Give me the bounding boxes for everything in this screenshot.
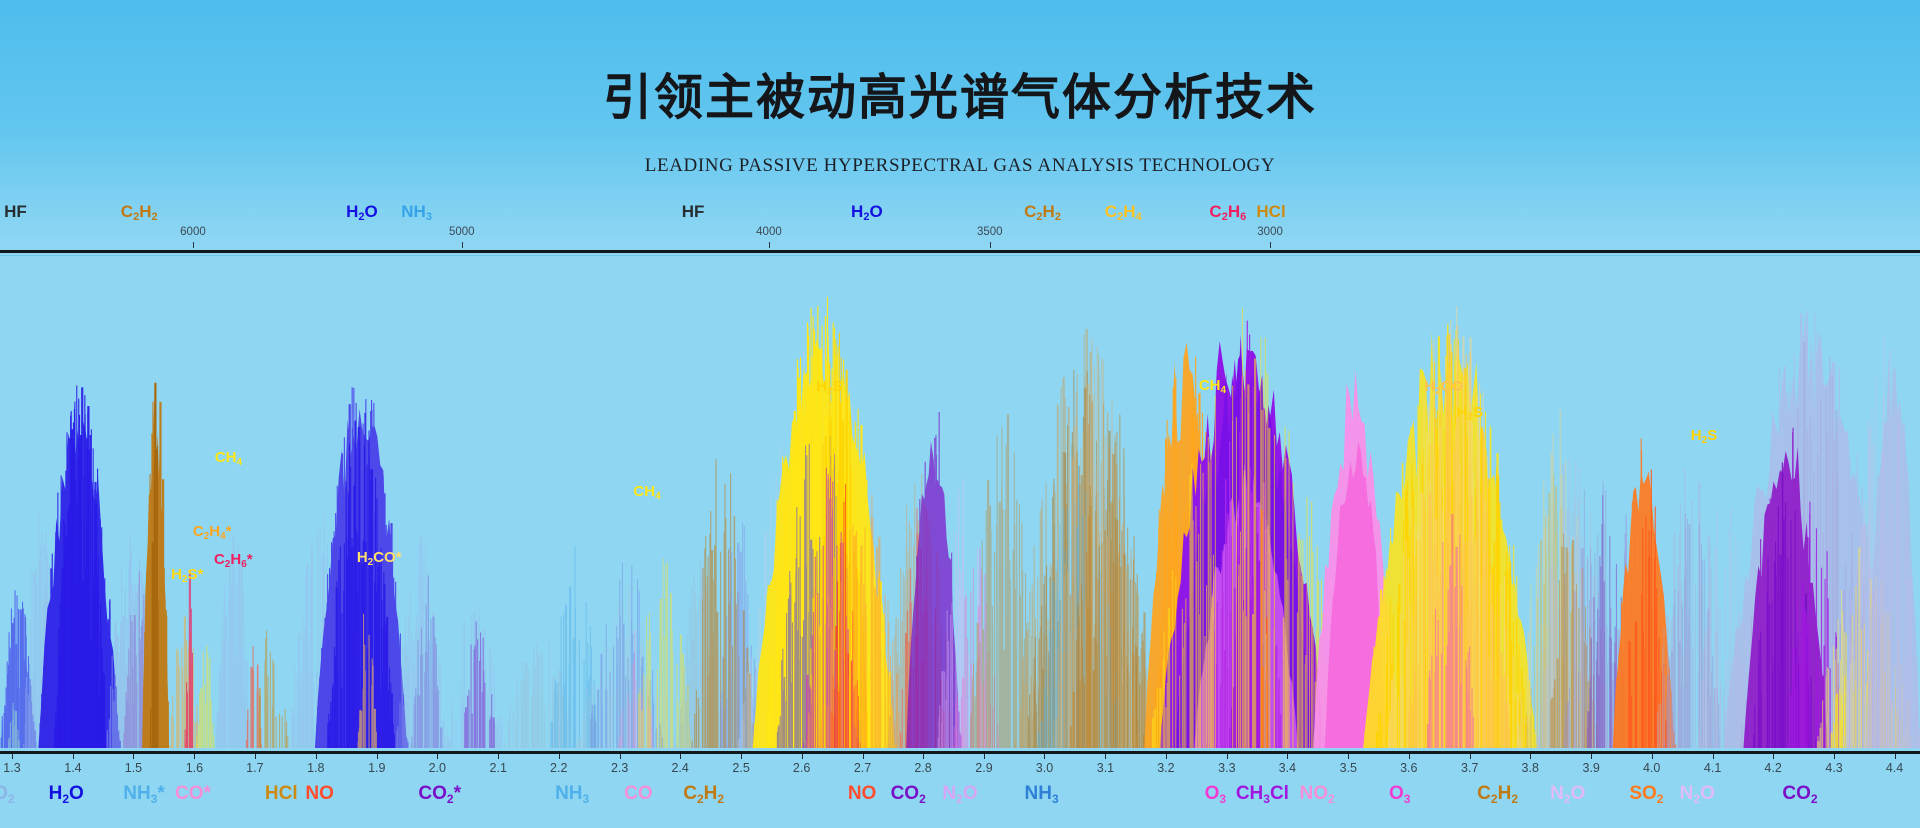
spectral-line bbox=[1035, 696, 1036, 748]
spectral-line bbox=[935, 435, 936, 748]
spectral-line bbox=[1543, 646, 1544, 749]
spectral-line bbox=[1221, 608, 1222, 748]
spectral-line bbox=[64, 666, 65, 748]
spectral-line bbox=[649, 613, 650, 749]
spectral-line bbox=[708, 557, 709, 749]
spectral-line bbox=[1495, 680, 1496, 748]
spectral-line bbox=[408, 670, 409, 748]
spectral-line bbox=[132, 703, 134, 748]
spectral-line bbox=[1292, 482, 1293, 748]
spectral-line bbox=[1435, 672, 1436, 748]
spectral-line bbox=[23, 744, 24, 748]
spectral-line bbox=[1537, 598, 1538, 748]
spectral-line bbox=[490, 716, 491, 748]
spectral-line bbox=[999, 502, 1001, 748]
spectral-line bbox=[1432, 561, 1433, 748]
spectral-line bbox=[155, 560, 156, 748]
spectral-line bbox=[705, 591, 706, 748]
spectral-line bbox=[504, 742, 505, 748]
spectral-line bbox=[88, 559, 89, 748]
spectral-line bbox=[791, 683, 792, 748]
spectral-line bbox=[1245, 370, 1246, 749]
spectral-line bbox=[484, 683, 485, 748]
spectral-line bbox=[538, 654, 540, 748]
spectral-line bbox=[41, 716, 42, 749]
spectral-line bbox=[657, 669, 658, 748]
spectral-line bbox=[121, 566, 122, 748]
spectral-line bbox=[109, 719, 110, 748]
spectral-line bbox=[581, 739, 582, 748]
spectral-line bbox=[1381, 724, 1382, 748]
spectral-line bbox=[204, 684, 205, 748]
spectral-line bbox=[794, 603, 795, 749]
spectral-line bbox=[933, 541, 934, 748]
spectral-line bbox=[670, 593, 672, 748]
spectral-line bbox=[522, 661, 523, 748]
spectral-line bbox=[1510, 642, 1512, 748]
page-title: 引领主被动高光谱气体分析技术 bbox=[0, 58, 1920, 129]
spectral-line bbox=[390, 718, 391, 748]
spectral-line bbox=[780, 716, 781, 748]
spectral-line bbox=[804, 620, 805, 748]
spectral-line bbox=[136, 683, 137, 748]
spectral-line bbox=[1507, 713, 1509, 748]
spectral-line bbox=[1004, 650, 1006, 748]
spectral-line bbox=[128, 685, 129, 748]
spectral-line bbox=[843, 502, 844, 748]
spectral-line bbox=[74, 415, 75, 748]
spectral-line bbox=[1312, 552, 1313, 748]
spectral-line bbox=[842, 625, 843, 748]
spectral-line bbox=[216, 731, 217, 749]
spectral-line bbox=[342, 685, 343, 748]
spectral-line bbox=[1052, 603, 1053, 748]
spectral-line bbox=[1535, 734, 1536, 748]
spectral-line bbox=[1534, 646, 1535, 748]
spectral-line bbox=[1124, 499, 1125, 748]
spectral-line bbox=[474, 649, 475, 748]
spectral-line bbox=[398, 640, 399, 748]
spectral-line bbox=[1526, 727, 1528, 748]
spectral-line bbox=[250, 667, 252, 748]
spectral-line bbox=[1093, 670, 1095, 748]
spectral-line bbox=[34, 633, 35, 748]
spectral-line bbox=[1198, 534, 1199, 748]
spectral-line bbox=[509, 706, 510, 748]
spectral-line bbox=[1112, 454, 1114, 748]
top-gas-label: HCl bbox=[1256, 202, 1285, 222]
spectral-line bbox=[86, 524, 87, 748]
top-wavenumber-axis: HFC2H2H2ONH3HFH2OC2H2C2H4C2H6HCl60005000… bbox=[0, 200, 1920, 252]
spectral-line bbox=[958, 605, 959, 748]
spectral-line bbox=[1560, 629, 1561, 748]
spectral-line bbox=[108, 628, 109, 748]
spectral-line bbox=[14, 725, 15, 748]
spectral-line bbox=[625, 677, 626, 749]
spectral-line bbox=[1459, 629, 1460, 748]
spectral-line bbox=[1203, 473, 1204, 748]
spectral-line bbox=[43, 722, 44, 748]
spectral-line bbox=[1302, 576, 1303, 748]
spectral-line bbox=[232, 535, 233, 748]
spectral-line bbox=[129, 705, 130, 748]
wavenumber-tick bbox=[193, 242, 194, 248]
spectral-line bbox=[1387, 637, 1388, 748]
spectral-line bbox=[973, 705, 974, 748]
spectral-line bbox=[930, 608, 931, 748]
spectral-line bbox=[401, 671, 402, 748]
spectral-line bbox=[1410, 693, 1411, 748]
spectral-line bbox=[715, 562, 716, 748]
spectral-line bbox=[1083, 676, 1084, 748]
spectral-line bbox=[1585, 683, 1586, 748]
spectral-line bbox=[150, 708, 151, 748]
spectral-line bbox=[750, 689, 751, 748]
spectral-line bbox=[1463, 554, 1464, 748]
spectral-line bbox=[302, 699, 303, 748]
spectral-line bbox=[1007, 414, 1009, 748]
spectral-line bbox=[1397, 605, 1398, 748]
spectral-line bbox=[745, 581, 746, 748]
spectral-line bbox=[555, 693, 556, 748]
spectral-line bbox=[954, 727, 955, 749]
spectral-line bbox=[1538, 544, 1539, 748]
spectral-line bbox=[201, 689, 203, 748]
spectral-line bbox=[683, 669, 684, 748]
spectral-line bbox=[276, 717, 277, 749]
spectral-line bbox=[264, 674, 266, 748]
spectral-line bbox=[716, 459, 717, 748]
spectral-line bbox=[852, 651, 853, 748]
spectral-line bbox=[355, 652, 356, 749]
spectral-line bbox=[827, 706, 828, 748]
spectral-line bbox=[102, 672, 103, 748]
spectral-line bbox=[1031, 636, 1032, 748]
spectral-line bbox=[166, 616, 167, 748]
spectral-line bbox=[803, 743, 804, 748]
wavenumber-tick bbox=[462, 242, 463, 248]
spectral-line bbox=[932, 620, 933, 749]
spectral-line bbox=[1073, 692, 1075, 748]
spectral-line bbox=[1133, 560, 1134, 748]
spectral-line bbox=[242, 694, 243, 748]
spectral-line bbox=[739, 738, 740, 748]
spectral-line bbox=[918, 627, 919, 748]
spectral-line bbox=[461, 678, 462, 748]
spectral-line bbox=[681, 701, 682, 748]
spectral-line bbox=[191, 609, 192, 748]
spectral-line bbox=[727, 699, 728, 748]
spectral-line bbox=[1391, 706, 1392, 748]
spectral-line bbox=[1571, 676, 1572, 748]
spectral-line bbox=[934, 547, 935, 748]
spectral-line bbox=[161, 535, 162, 748]
spectral-line bbox=[1544, 677, 1545, 748]
spectral-line bbox=[910, 682, 911, 748]
spectral-line bbox=[743, 720, 744, 748]
spectral-line bbox=[376, 732, 377, 748]
spectral-line bbox=[1482, 431, 1484, 748]
spectral-line bbox=[754, 741, 755, 748]
spectral-line bbox=[613, 647, 614, 748]
top-gas-label: C2H6 bbox=[1209, 202, 1246, 222]
spectral-line bbox=[471, 645, 472, 749]
spectral-line bbox=[952, 651, 953, 748]
spectral-line bbox=[798, 660, 799, 748]
spectral-line bbox=[273, 715, 274, 748]
spectral-line bbox=[1480, 493, 1481, 748]
spectral-line bbox=[824, 601, 825, 748]
spectral-line bbox=[1014, 604, 1015, 748]
spectral-line bbox=[1411, 706, 1413, 748]
spectral-line bbox=[69, 503, 70, 748]
spectral-line bbox=[967, 639, 968, 749]
spectral-line bbox=[642, 709, 643, 748]
spectral-line bbox=[1461, 586, 1462, 748]
spectral-line bbox=[343, 590, 344, 748]
spectral-line bbox=[211, 728, 212, 749]
spectral-line bbox=[26, 724, 27, 748]
top-gas-label: H2O bbox=[851, 202, 883, 222]
spectral-line bbox=[235, 678, 236, 748]
spectral-line bbox=[1300, 540, 1301, 749]
spectral-line bbox=[1283, 617, 1284, 748]
spectral-line bbox=[1096, 641, 1097, 748]
spectral-line bbox=[836, 648, 837, 748]
spectral-line bbox=[948, 641, 949, 748]
spectral-line bbox=[531, 696, 532, 748]
spectral-line bbox=[437, 686, 438, 748]
spectral-line bbox=[1383, 661, 1384, 748]
plot-top-border bbox=[0, 250, 1920, 253]
spectral-line bbox=[941, 723, 942, 748]
spectral-line bbox=[966, 595, 967, 748]
top-gas-label: HF bbox=[4, 202, 27, 222]
spectral-line bbox=[1445, 665, 1446, 748]
spectral-line bbox=[1427, 724, 1429, 748]
spectral-line bbox=[1371, 701, 1372, 748]
spectral-line bbox=[93, 577, 94, 748]
spectral-line bbox=[802, 637, 803, 748]
spectral-line bbox=[384, 605, 385, 748]
spectral-line bbox=[950, 615, 951, 748]
spectral-line bbox=[1387, 742, 1388, 748]
spectral-line bbox=[10, 722, 11, 748]
spectral-line bbox=[307, 626, 308, 748]
spectral-line bbox=[1231, 708, 1232, 748]
spectral-line bbox=[1442, 542, 1443, 748]
spectral-line bbox=[1472, 689, 1473, 748]
spectral-line bbox=[409, 592, 410, 748]
spectral-line bbox=[1234, 588, 1235, 748]
spectral-line bbox=[112, 656, 113, 748]
spectral-line bbox=[1086, 559, 1087, 748]
spectral-line bbox=[971, 718, 972, 748]
spectral-line bbox=[1430, 680, 1431, 748]
spectral-line bbox=[544, 706, 545, 748]
spectral-line bbox=[1157, 687, 1158, 748]
spectral-line bbox=[1165, 707, 1166, 748]
spectral-line bbox=[1501, 678, 1502, 748]
wavenumber-tick-label: 5000 bbox=[449, 226, 475, 238]
spectral-line bbox=[1267, 375, 1268, 749]
spectral-line bbox=[1548, 665, 1549, 748]
spectral-line bbox=[198, 725, 199, 748]
spectral-line bbox=[871, 517, 872, 748]
spectral-line bbox=[1252, 614, 1254, 748]
spectral-line bbox=[194, 722, 195, 748]
spectral-line bbox=[40, 723, 41, 748]
spectral-line bbox=[1395, 688, 1396, 748]
spectral-line bbox=[1421, 495, 1422, 748]
spectral-line bbox=[225, 617, 227, 748]
spectral-line bbox=[246, 740, 247, 748]
spectral-line bbox=[557, 683, 558, 748]
spectral-line bbox=[285, 709, 286, 748]
spectral-line bbox=[292, 709, 293, 748]
spectral-line bbox=[417, 702, 418, 748]
spectral-line bbox=[1450, 569, 1451, 749]
spectral-line bbox=[756, 733, 757, 748]
spectral-line bbox=[209, 658, 210, 748]
spectral-line bbox=[621, 716, 622, 748]
spectral-line bbox=[1546, 648, 1547, 749]
spectral-line bbox=[1490, 682, 1492, 748]
spectral-line bbox=[489, 720, 490, 748]
spectral-line bbox=[1016, 645, 1017, 748]
spectral-line bbox=[1115, 441, 1116, 748]
spectral-line bbox=[1376, 732, 1378, 748]
spectral-line bbox=[1141, 633, 1142, 748]
spectral-line bbox=[762, 683, 763, 748]
spectral-line bbox=[143, 729, 144, 748]
spectral-line bbox=[955, 716, 956, 748]
spectral-line bbox=[694, 714, 695, 748]
spectral-line bbox=[994, 552, 995, 748]
spectral-line bbox=[1117, 465, 1118, 748]
spectral-line bbox=[513, 709, 514, 748]
spectral-line bbox=[818, 743, 819, 748]
spectral-line bbox=[1424, 499, 1425, 749]
spectral-line bbox=[1431, 655, 1432, 748]
spectral-line bbox=[938, 738, 939, 748]
spectral-line bbox=[425, 652, 427, 748]
spectral-line bbox=[777, 732, 778, 748]
spectral-line bbox=[702, 568, 703, 748]
spectral-line bbox=[1190, 473, 1191, 748]
spectral-line bbox=[710, 588, 711, 748]
spectral-line bbox=[116, 636, 118, 749]
spectral-line bbox=[767, 718, 768, 748]
spectral-line bbox=[533, 648, 534, 748]
spectral-line bbox=[430, 619, 431, 748]
spectral-line bbox=[1135, 582, 1136, 748]
spectral-line bbox=[878, 657, 880, 749]
wavenumber-tick-label: 3500 bbox=[977, 226, 1003, 238]
spectral-line bbox=[497, 728, 498, 748]
spectral-line bbox=[1287, 580, 1288, 748]
spectral-line bbox=[832, 687, 833, 748]
spectral-line bbox=[15, 711, 17, 748]
spectral-line bbox=[391, 714, 392, 748]
spectral-line bbox=[123, 627, 124, 748]
spectral-line bbox=[1557, 659, 1559, 749]
spectral-line bbox=[1504, 703, 1505, 748]
spectral-line bbox=[187, 693, 188, 749]
spectral-line bbox=[729, 547, 730, 748]
spectral-line bbox=[1210, 558, 1211, 748]
spectral-line bbox=[980, 642, 981, 748]
spectral-line bbox=[1071, 725, 1072, 748]
spectral-line bbox=[616, 626, 617, 749]
spectral-line bbox=[542, 696, 543, 748]
spectral-line bbox=[330, 702, 331, 748]
spectral-line bbox=[1452, 579, 1453, 748]
spectral-line bbox=[403, 705, 405, 748]
spectral-line bbox=[1195, 506, 1196, 748]
spectral-line bbox=[812, 635, 813, 748]
spectral-line bbox=[465, 707, 467, 748]
spectral-line bbox=[646, 677, 647, 748]
spectral-line bbox=[634, 630, 635, 748]
spectral-line bbox=[641, 711, 642, 748]
spectrum-poster: 引领主被动高光谱气体分析技术 LEADING PASSIVE HYPERSPEC… bbox=[0, 0, 1920, 828]
spectral-line bbox=[434, 682, 435, 748]
spectral-line bbox=[845, 647, 846, 748]
spectral-line bbox=[789, 606, 790, 748]
spectral-line bbox=[521, 681, 522, 748]
spectral-line bbox=[1393, 673, 1394, 748]
spectral-line bbox=[1278, 697, 1279, 748]
spectral-line bbox=[1105, 656, 1107, 748]
spectral-line bbox=[1172, 570, 1173, 748]
spectral-line bbox=[1167, 683, 1168, 748]
spectral-line bbox=[1119, 415, 1120, 749]
spectral-line bbox=[224, 586, 225, 749]
spectral-line bbox=[1457, 565, 1458, 749]
spectral-line bbox=[996, 525, 997, 748]
spectral-line bbox=[820, 729, 821, 748]
spectral-line bbox=[1289, 431, 1290, 748]
wavenumber-tick-label: 3000 bbox=[1257, 226, 1283, 238]
spectral-line bbox=[685, 702, 687, 748]
spectral-line bbox=[535, 668, 536, 749]
spectral-line bbox=[579, 641, 580, 748]
spectral-line bbox=[669, 723, 670, 748]
spectral-line bbox=[1020, 709, 1021, 748]
spectral-line bbox=[578, 738, 580, 748]
spectral-line bbox=[688, 661, 689, 748]
spectral-line bbox=[1497, 594, 1498, 748]
spectral-line bbox=[986, 662, 988, 748]
spectral-line bbox=[178, 655, 179, 748]
spectral-line bbox=[6, 716, 7, 748]
spectral-line bbox=[1220, 685, 1221, 748]
spectrum-band bbox=[169, 616, 198, 748]
spectral-line bbox=[406, 653, 407, 748]
spectral-line bbox=[1208, 437, 1209, 748]
spectral-line bbox=[1204, 636, 1205, 748]
spectral-line bbox=[923, 538, 924, 748]
spectral-line bbox=[1068, 652, 1069, 748]
spectral-line bbox=[1089, 575, 1090, 748]
spectral-line bbox=[889, 717, 890, 748]
spectral-line bbox=[796, 558, 797, 748]
spectral-line bbox=[1398, 697, 1399, 748]
spectral-line bbox=[1364, 742, 1365, 748]
spectral-line bbox=[577, 742, 578, 748]
spectral-line bbox=[1499, 615, 1500, 748]
